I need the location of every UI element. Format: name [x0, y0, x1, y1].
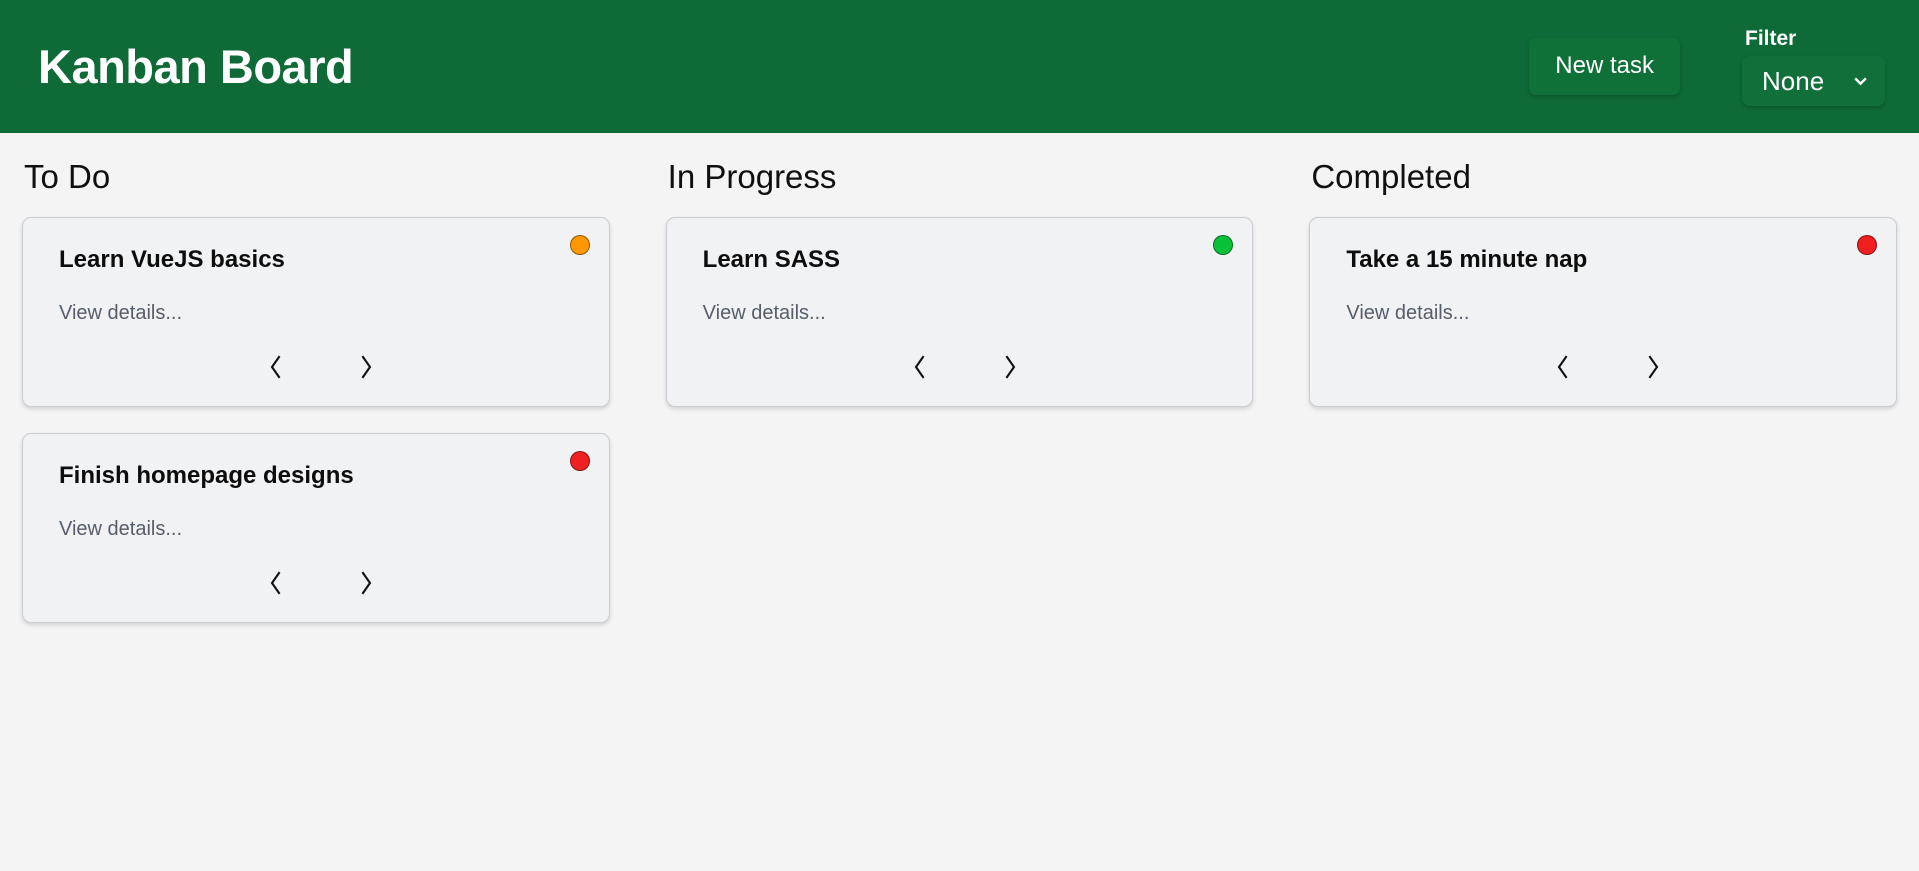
move-right-button[interactable]	[352, 568, 380, 598]
filter-group: Filter None	[1742, 28, 1897, 106]
card-list: Learn VueJS basics View details... Finis…	[22, 217, 610, 623]
task-nav	[59, 352, 583, 386]
header-actions: New task Filter None	[1529, 28, 1897, 106]
status-dot	[570, 451, 590, 471]
chevron-right-icon	[1002, 354, 1018, 380]
move-right-button[interactable]	[352, 352, 380, 382]
card-list: Take a 15 minute nap View details...	[1309, 217, 1897, 407]
task-nav	[703, 352, 1227, 386]
task-title: Take a 15 minute nap	[1346, 246, 1870, 275]
page-title: Kanban Board	[38, 43, 353, 90]
board-column-to-do: To Do Learn VueJS basics View details...…	[22, 159, 610, 623]
move-right-button[interactable]	[996, 352, 1024, 382]
filter-label: Filter	[1742, 28, 1796, 49]
task-title: Learn SASS	[703, 246, 1227, 275]
chevron-right-icon	[358, 354, 374, 380]
move-left-button[interactable]	[1549, 352, 1577, 382]
view-details-link[interactable]: View details...	[59, 517, 583, 541]
task-card[interactable]: Take a 15 minute nap View details...	[1309, 217, 1897, 407]
move-left-button[interactable]	[906, 352, 934, 382]
view-details-link[interactable]: View details...	[703, 301, 1227, 325]
new-task-button[interactable]: New task	[1529, 38, 1680, 94]
status-dot	[570, 235, 590, 255]
task-card[interactable]: Learn SASS View details...	[666, 217, 1254, 407]
chevron-left-icon	[912, 354, 928, 380]
view-details-link[interactable]: View details...	[1346, 301, 1870, 325]
task-card[interactable]: Learn VueJS basics View details...	[22, 217, 610, 407]
move-left-button[interactable]	[262, 568, 290, 598]
view-details-link[interactable]: View details...	[59, 301, 583, 325]
chevron-down-icon	[1852, 72, 1869, 89]
task-title: Finish homepage designs	[59, 462, 583, 491]
column-title: To Do	[24, 159, 610, 195]
app-header: Kanban Board New task Filter None	[0, 0, 1919, 133]
task-title: Learn VueJS basics	[59, 246, 583, 275]
task-nav	[59, 568, 583, 602]
status-dot	[1213, 235, 1233, 255]
chevron-left-icon	[1555, 354, 1571, 380]
move-left-button[interactable]	[262, 352, 290, 382]
filter-select[interactable]: None	[1742, 56, 1885, 106]
chevron-left-icon	[268, 570, 284, 596]
card-list: Learn SASS View details...	[666, 217, 1254, 407]
chevron-right-icon	[1645, 354, 1661, 380]
board-column-in-progress: In Progress Learn SASS View details...	[666, 159, 1254, 623]
chevron-right-icon	[358, 570, 374, 596]
filter-select-value: None	[1762, 68, 1834, 94]
status-dot	[1857, 235, 1877, 255]
column-title: In Progress	[668, 159, 1254, 195]
task-nav	[1346, 352, 1870, 386]
board-column-completed: Completed Take a 15 minute nap View deta…	[1309, 159, 1897, 623]
task-card[interactable]: Finish homepage designs View details...	[22, 433, 610, 623]
chevron-left-icon	[268, 354, 284, 380]
kanban-board: To Do Learn VueJS basics View details...…	[0, 133, 1919, 623]
move-right-button[interactable]	[1639, 352, 1667, 382]
column-title: Completed	[1311, 159, 1897, 195]
